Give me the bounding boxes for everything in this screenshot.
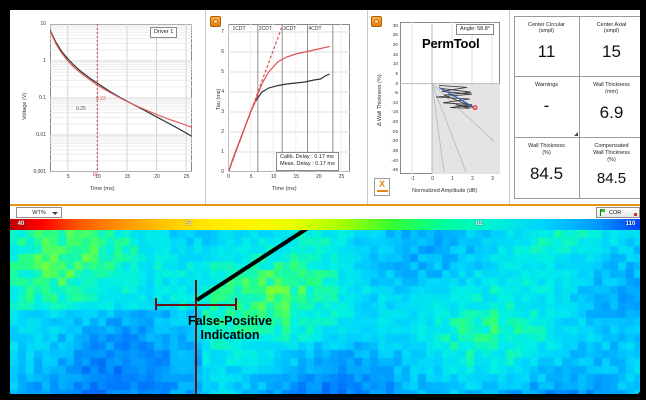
panel-permtool: PermTool Angle: 58.8° Normalized Amplitu… bbox=[368, 10, 510, 204]
colorbar-controls: WT% COR bbox=[10, 206, 646, 219]
clear-button-underline bbox=[377, 190, 388, 192]
metric-label: Warnings bbox=[535, 82, 558, 89]
metric-label: Wall Thickness(mm) bbox=[593, 82, 630, 96]
axis-tick: 0 bbox=[428, 176, 437, 182]
axis-tick: 5 bbox=[247, 174, 256, 180]
application-window: Driver 1 Time (ms) Voltage (V) 0.22 0.25… bbox=[0, 0, 646, 400]
axis-tick: 0.001 bbox=[22, 169, 46, 175]
app-content: Driver 1 Time (ms) Voltage (V) 0.22 0.25… bbox=[10, 10, 646, 400]
metric-value: 11 bbox=[538, 42, 556, 62]
panel-voltage-decay: Driver 1 Time (ms) Voltage (V) 0.22 0.25… bbox=[10, 10, 206, 204]
help-icon[interactable] bbox=[210, 16, 221, 27]
palette-selector-label: WT% bbox=[32, 210, 45, 216]
metric-cell-center-axial[interactable]: Center Axial(smpl)15 bbox=[579, 16, 645, 78]
metric-value: 84.5 bbox=[530, 164, 563, 184]
false-positive-callout: False-Positive Indication bbox=[140, 314, 320, 342]
permtool-title: PermTool bbox=[422, 36, 479, 51]
cor-indicator-dot bbox=[634, 213, 637, 216]
axis-tick: 5 bbox=[64, 174, 73, 180]
axis-tick: -40 bbox=[378, 158, 398, 163]
annotation-025: 0.25 bbox=[76, 106, 86, 112]
axis-tick: 3 bbox=[212, 109, 224, 115]
axis-tick: 30 bbox=[378, 23, 398, 28]
tau-curves bbox=[228, 24, 350, 172]
callout-line-2: Indication bbox=[140, 328, 320, 342]
calib-delay-text: Calib. Delay : 0.17 ms bbox=[280, 154, 335, 161]
axis-tick: 3 bbox=[488, 176, 497, 182]
driver-legend: Driver 1 bbox=[150, 27, 177, 38]
axis-tick: 1 bbox=[22, 58, 46, 64]
angle-readout: Angle: 58.8° bbox=[456, 24, 494, 35]
metric-label: Wall Thickness(%) bbox=[528, 143, 565, 157]
panel-tau: Calib. Delay : 0.17 ms Meas. Delay : 0.1… bbox=[206, 10, 368, 204]
axis-tick: -5 bbox=[378, 90, 398, 95]
axis-tick: 15 bbox=[123, 174, 132, 180]
axis-tick: -30 bbox=[378, 138, 398, 143]
axis-tick: 2CDT bbox=[259, 26, 272, 32]
axis-tick: 0.1 bbox=[22, 95, 46, 101]
callout-line-1: False-Positive bbox=[140, 314, 320, 328]
axis-tick: 10 bbox=[92, 172, 98, 178]
axis-tick: 2 bbox=[212, 129, 224, 135]
metric-label: Center Axial(smpl) bbox=[597, 22, 627, 36]
crosshair-horizontal bbox=[155, 304, 237, 306]
axis-tick: 1 bbox=[448, 176, 457, 182]
flag-icon bbox=[600, 209, 606, 216]
axis-tick: 1 bbox=[212, 149, 224, 155]
axis-tick: -45 bbox=[378, 167, 398, 172]
delay-legend: Calib. Delay : 0.17 ms Meas. Delay : 0.1… bbox=[276, 152, 339, 171]
axis-tick: 10 bbox=[378, 61, 398, 66]
crosshair-right-cap bbox=[235, 298, 237, 310]
axis-tick: 1CDT bbox=[233, 26, 246, 32]
resize-corner[interactable] bbox=[574, 132, 578, 136]
metric-cell-wall-thickness-mm[interactable]: Wall Thickness(mm)6.9 bbox=[579, 76, 645, 138]
axis-tick: -15 bbox=[378, 109, 398, 114]
axis-tick: 0 bbox=[212, 169, 224, 175]
analysis-panels: Driver 1 Time (ms) Voltage (V) 0.22 0.25… bbox=[10, 10, 646, 204]
axis-tick: 0 bbox=[378, 81, 398, 86]
metric-cell-center-circular[interactable]: Center Circular(smpl)11 bbox=[514, 16, 580, 78]
metric-grid: Center Circular(smpl)11Center Axial(smpl… bbox=[514, 16, 644, 198]
axis-tick: 25 bbox=[182, 174, 191, 180]
axis-tick: 10 bbox=[269, 174, 278, 180]
axis-tick: 5 bbox=[378, 71, 398, 76]
axis-tick: 0.01 bbox=[22, 132, 46, 138]
axis-tick: 3CDT bbox=[283, 26, 296, 32]
meas-delay-text: Meas. Delay : 0.17 ms bbox=[280, 161, 335, 168]
axis-tick: 4 bbox=[212, 89, 224, 95]
clear-button-label: X bbox=[375, 179, 389, 190]
axis-tick: 20 bbox=[314, 174, 323, 180]
metric-label: Center Circular(smpl) bbox=[528, 22, 565, 36]
metric-value: 84.5 bbox=[597, 170, 626, 187]
axis-tick: 2 bbox=[468, 176, 477, 182]
axis-tick: -35 bbox=[378, 148, 398, 153]
palette-selector[interactable]: WT% bbox=[16, 207, 62, 218]
metric-value: - bbox=[544, 96, 550, 116]
permtool-xaxis-title: Normalized Amplitude (dB) bbox=[412, 188, 477, 194]
cor-button[interactable]: COR bbox=[596, 207, 640, 218]
cscan-heatmap[interactable]: False-Positive Indication bbox=[10, 230, 646, 400]
axis-tick: 15 bbox=[292, 174, 301, 180]
axis-tick: -1 bbox=[408, 176, 417, 182]
clear-button[interactable]: X bbox=[374, 178, 390, 196]
colorbar-tick: 110 bbox=[626, 221, 636, 227]
axis-tick: 7 bbox=[212, 29, 224, 35]
axis-tick: 20 bbox=[153, 174, 162, 180]
colorbar-tick: 57 bbox=[185, 221, 192, 227]
metric-label: CompensatedWall Thickness(%) bbox=[593, 143, 630, 164]
metric-value: 15 bbox=[602, 42, 621, 62]
axis-tick: 0 bbox=[224, 174, 233, 180]
chevron-down-icon bbox=[52, 212, 58, 215]
axis-tick: 4CDT bbox=[309, 26, 322, 32]
axis-tick: 25 bbox=[378, 32, 398, 37]
voltage-xaxis-title: Time (ms) bbox=[90, 186, 115, 192]
annotation-022: 0.22 bbox=[96, 96, 106, 102]
voltage-curves bbox=[50, 24, 192, 172]
tau-xaxis-title: Time (ms) bbox=[272, 186, 297, 192]
axis-tick: 15 bbox=[378, 52, 398, 57]
axis-tick: -25 bbox=[378, 129, 398, 134]
metric-cell-wall-thickness-pct[interactable]: Wall Thickness(%)84.5 bbox=[514, 137, 580, 199]
crosshair-left-cap bbox=[155, 298, 157, 310]
axis-tick: 10 bbox=[22, 21, 46, 27]
colorbar-tick: 40 bbox=[18, 221, 25, 227]
panel-metrics: Center Circular(smpl)11Center Axial(smpl… bbox=[510, 10, 646, 204]
axis-tick: 5 bbox=[212, 69, 224, 75]
cor-button-label: COR bbox=[609, 210, 621, 216]
cscan-image[interactable] bbox=[10, 230, 646, 400]
metric-cell-warnings[interactable]: Warnings- bbox=[514, 76, 580, 138]
metric-cell-compensated-wall-thickness-pct[interactable]: CompensatedWall Thickness(%)84.5 bbox=[579, 137, 645, 199]
axis-tick: 6 bbox=[212, 49, 224, 55]
colorbar-tick: 82 bbox=[476, 221, 483, 227]
colorbar-toolbar: WT% COR 405782110 bbox=[10, 204, 646, 230]
metric-value: 6.9 bbox=[600, 103, 624, 123]
axis-tick: -10 bbox=[378, 100, 398, 105]
axis-tick: 20 bbox=[378, 42, 398, 47]
axis-tick: -20 bbox=[378, 119, 398, 124]
axis-tick: 25 bbox=[337, 174, 346, 180]
